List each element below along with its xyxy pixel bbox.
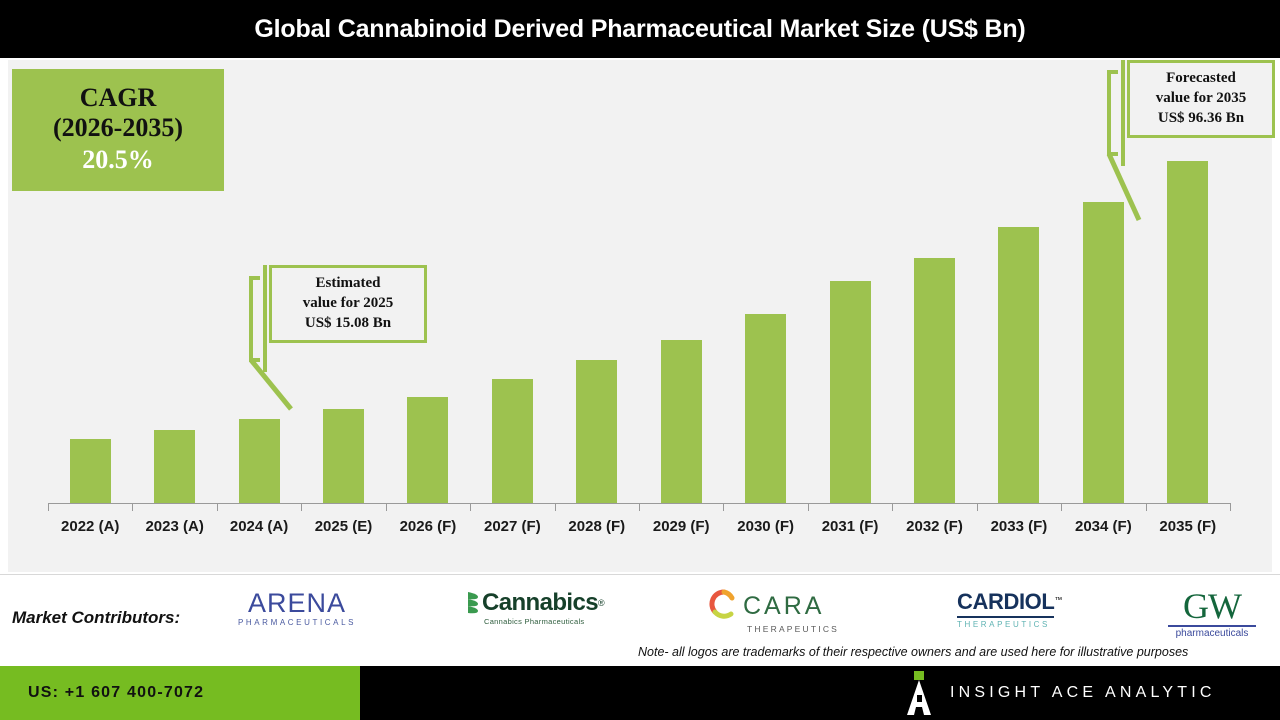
- callout-connectors: [8, 60, 1272, 572]
- gw-wordmark: GW: [1166, 589, 1258, 623]
- cannabics-leaf-icon: [466, 589, 480, 617]
- insight-ace-logo-icon: [902, 671, 936, 715]
- footer-bar: US: +1 607 400-7072 INSIGHT ACE ANALYTIC: [0, 666, 1280, 720]
- cardiol-tm-icon: ™: [1054, 596, 1062, 605]
- arena-wordmark: ARENA: [232, 589, 362, 617]
- cardiol-divider: [957, 616, 1054, 618]
- cardiol-wordmark: CARDIOL: [957, 589, 1054, 614]
- trademark-note: Note- all logos are trademarks of their …: [638, 645, 1188, 659]
- page-title: Global Cannabinoid Derived Pharmaceutica…: [254, 15, 1025, 44]
- callout-forecasted-2035: Forecasted value for 2035 US$ 96.36 Bn: [1127, 60, 1275, 138]
- logo-gw-pharmaceuticals: GW pharmaceuticals: [1166, 589, 1258, 639]
- cardiol-subtitle: THERAPEUTICS: [957, 620, 1069, 629]
- callout-estimated-2025: Estimated value for 2025 US$ 15.08 Bn: [269, 265, 427, 343]
- logo-arena-pharmaceuticals: ARENA PHARMACEUTICALS: [232, 589, 362, 627]
- logo-cara-therapeutics: CARA THERAPEUTICS: [709, 589, 849, 634]
- footer-phone-number[interactable]: US: +1 607 400-7072: [28, 684, 204, 702]
- market-contributors-label: Market Contributors:: [12, 608, 180, 628]
- footer-brand: INSIGHT ACE ANALYTIC: [902, 666, 1216, 720]
- footer-brand-text: INSIGHT ACE ANALYTIC: [950, 684, 1216, 702]
- logo-cannabics-pharmaceuticals: Cannabics ® Cannabics Pharmaceuticals: [466, 589, 601, 626]
- cannabics-subtitle: Cannabics Pharmaceuticals: [484, 617, 601, 626]
- footer-phone-block[interactable]: US: +1 607 400-7072: [0, 666, 360, 720]
- chart-panel: CAGR (2026-2035) 20.5% 2022 (A)2023 (A)2…: [8, 60, 1272, 572]
- cara-wordmark: CARA: [743, 592, 824, 621]
- cannabics-wordmark: Cannabics: [482, 589, 598, 617]
- arena-subtitle: PHARMACEUTICALS: [232, 618, 362, 627]
- gw-subtitle: pharmaceuticals: [1166, 628, 1258, 639]
- market-contributors-strip: Market Contributors: ARENA PHARMACEUTICA…: [0, 574, 1280, 666]
- cannabics-registered-icon: ®: [598, 598, 605, 608]
- cara-subtitle: THERAPEUTICS: [747, 624, 849, 634]
- title-bar: Global Cannabinoid Derived Pharmaceutica…: [0, 0, 1280, 58]
- logo-cardiol-therapeutics: CARDIOL™ THERAPEUTICS: [957, 589, 1069, 629]
- cara-c-icon: [709, 589, 739, 624]
